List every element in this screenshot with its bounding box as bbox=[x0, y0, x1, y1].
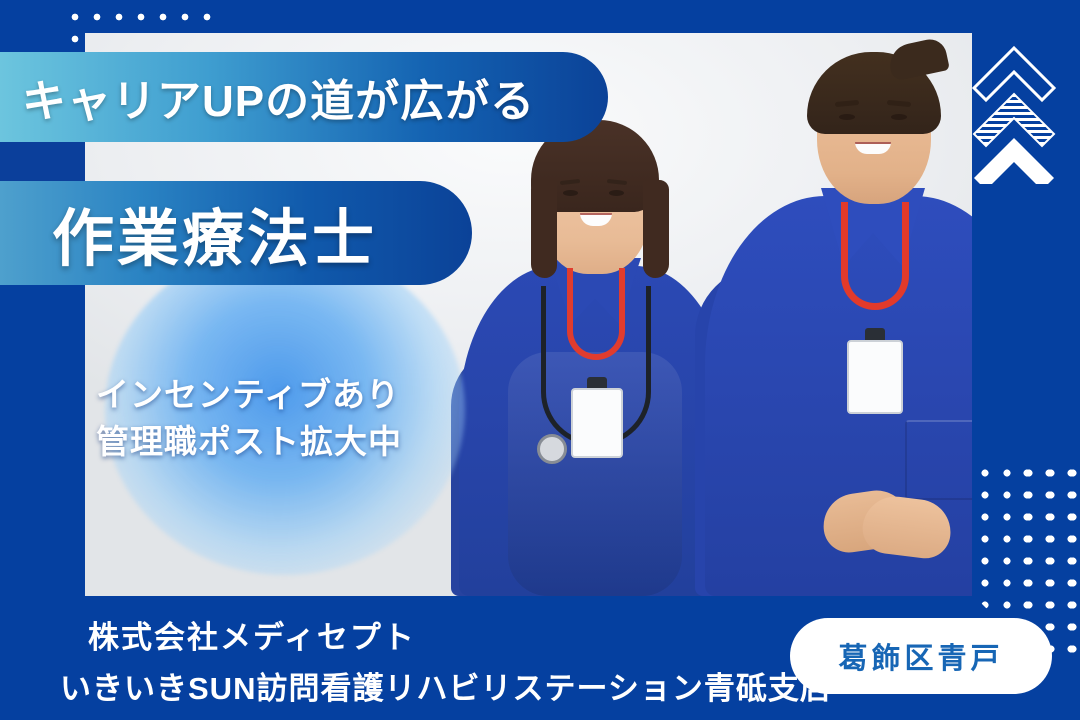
female-stethoscope-bell-icon bbox=[537, 434, 567, 464]
male-eye-right bbox=[891, 114, 907, 120]
male-hair bbox=[807, 52, 941, 134]
company-block: 株式会社メディセプト いきいきSUN訪問看護リハビリステーション青砥支店 bbox=[60, 612, 832, 708]
location-badge-label: 葛飾区青戸 bbox=[838, 635, 1003, 677]
female-hair-side-right bbox=[643, 180, 669, 278]
benefits-block: インセンティブあり 管理職ポスト拡大中 bbox=[96, 372, 402, 466]
male-lanyard bbox=[841, 202, 909, 310]
male-eye-left bbox=[839, 114, 855, 120]
branch-name: いきいきSUN訪問看護リハビリステーション青砥支店 bbox=[60, 663, 832, 708]
female-hair-side-left bbox=[531, 180, 557, 278]
location-badge[interactable]: 葛飾区青戸 bbox=[790, 618, 1052, 694]
chevron-up-outline-icon bbox=[974, 48, 1054, 100]
recruitment-banner: キャリアUPの道が広がる 作業療法士 インセンティブあり 管理職ポスト拡大中 bbox=[0, 0, 1080, 720]
male-id-badge bbox=[847, 340, 903, 414]
male-chest-pocket bbox=[905, 420, 972, 500]
female-id-badge bbox=[571, 388, 623, 458]
chevron-up-icons bbox=[970, 46, 1058, 184]
chevron-stack bbox=[970, 46, 1058, 184]
benefits-line-1: インセンティブあり bbox=[96, 372, 402, 419]
job-title-text: 作業療法士 bbox=[0, 188, 377, 278]
person-male bbox=[695, 33, 972, 596]
footer: 株式会社メディセプト いきいきSUN訪問看護リハビリステーション青砥支店 葛飾区… bbox=[0, 596, 1080, 720]
female-eye-right bbox=[609, 190, 624, 196]
company-name: 株式会社メディセプト bbox=[60, 612, 832, 657]
connector-tab bbox=[0, 141, 85, 183]
female-eye-left bbox=[563, 190, 578, 196]
headline-text: キャリアUPの道が広がる bbox=[0, 65, 535, 129]
benefits-line-2: 管理職ポスト拡大中 bbox=[96, 419, 402, 466]
job-title-pill: 作業療法士 bbox=[0, 181, 472, 285]
headline-pill: キャリアUPの道が広がる bbox=[0, 52, 608, 142]
